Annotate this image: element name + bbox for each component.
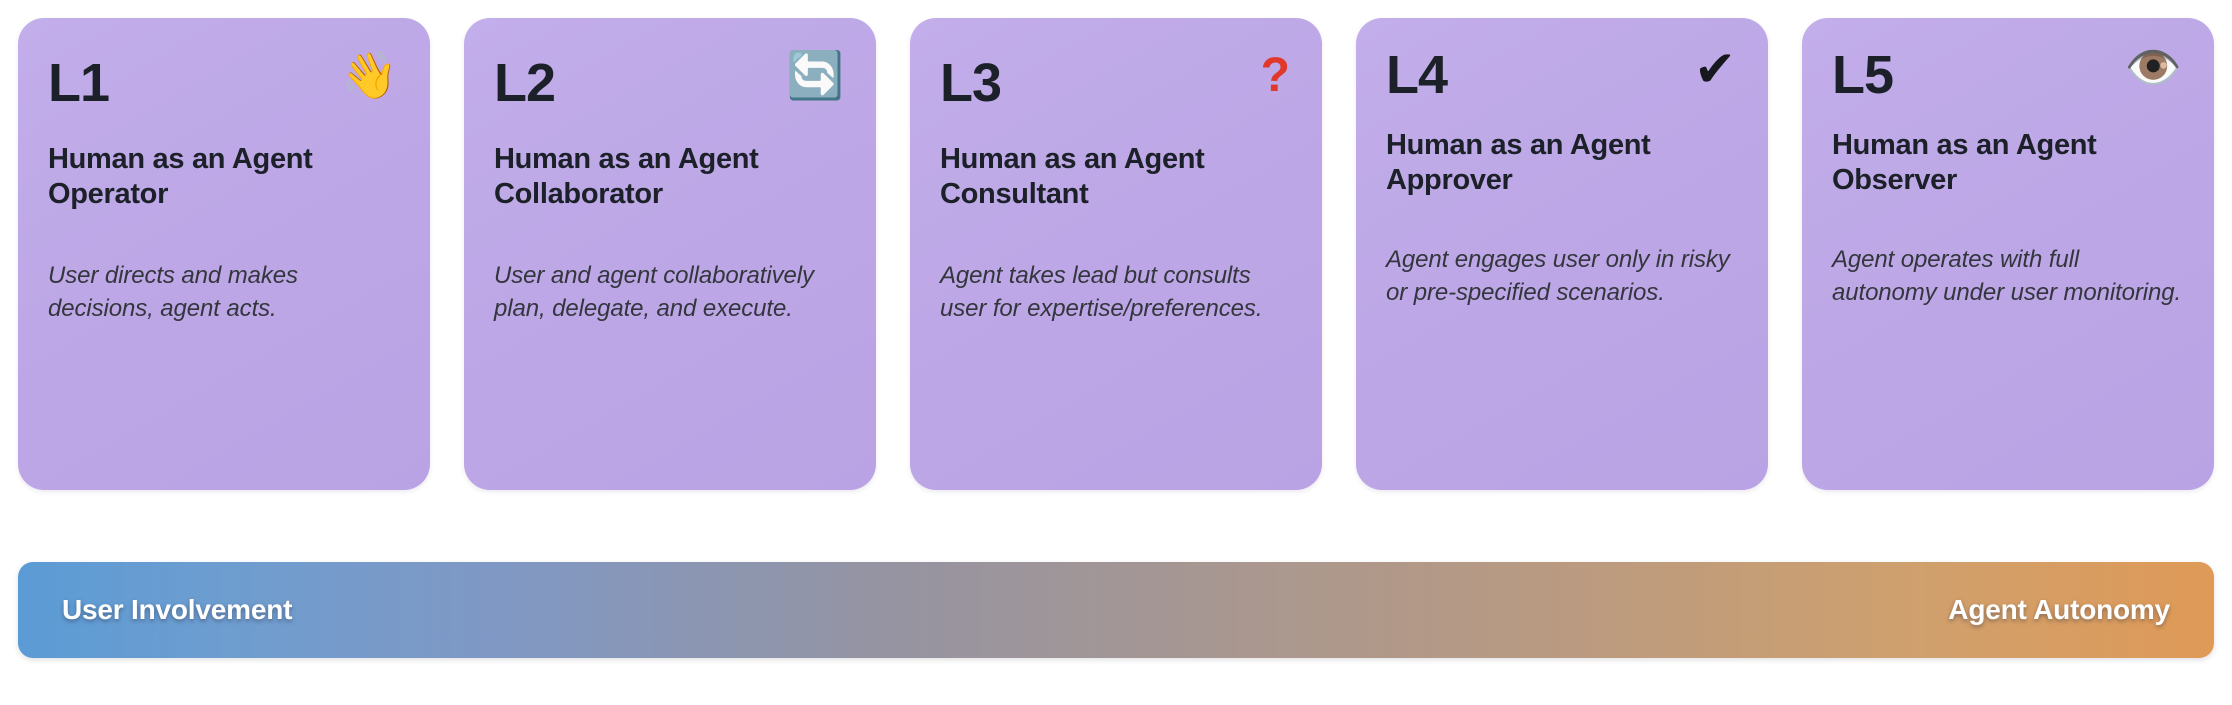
level-title-l4: Human as an Agent Approver xyxy=(1386,128,1738,199)
level-description-l5: Agent operates with full autonomy under … xyxy=(1832,243,2184,309)
agent-autonomy-levels-figure: L1 👋 Human as an Agent Operator User dir… xyxy=(0,0,2232,705)
level-title-l2: Human as an Agent Collaborator xyxy=(494,142,846,213)
card-header-l4: L4 ✔ xyxy=(1386,40,1738,124)
level-description-l3: Agent takes lead but consults user for e… xyxy=(940,259,1292,325)
card-header-l1: L1 👋 xyxy=(48,48,400,132)
level-description-l2: User and agent collaboratively plan, del… xyxy=(494,259,846,325)
level-tag-l1: L1 xyxy=(48,56,109,110)
level-card-l4[interactable]: L4 ✔ Human as an Agent Approver Agent en… xyxy=(1356,18,1768,490)
level-tag-l3: L3 xyxy=(940,56,1001,110)
level-tag-l4: L4 xyxy=(1386,48,1447,102)
level-title-l5: Human as an Agent Observer xyxy=(1832,128,2184,199)
level-card-l5[interactable]: L5 👁️ Human as an Agent Observer Agent o… xyxy=(1802,18,2214,490)
level-card-l3[interactable]: L3 ? Human as an Agent Consultant Agent … xyxy=(910,18,1322,490)
level-title-l1: Human as an Agent Operator xyxy=(48,142,400,213)
level-title-l3: Human as an Agent Consultant xyxy=(940,142,1292,213)
level-tag-l2: L2 xyxy=(494,56,555,110)
level-description-l1: User directs and makes decisions, agent … xyxy=(48,259,400,325)
card-header-l3: L3 ? xyxy=(940,48,1292,132)
level-card-row: L1 👋 Human as an Agent Operator User dir… xyxy=(18,18,2214,490)
card-header-l2: L2 🔄 xyxy=(494,48,846,132)
question-mark-icon: ? xyxy=(1261,52,1290,100)
waving-hand-icon: 👋 xyxy=(341,52,398,98)
level-description-l4: Agent engages user only in risky or pre-… xyxy=(1386,243,1738,309)
eye-icon: 👁️ xyxy=(2125,44,2182,90)
level-card-l2[interactable]: L2 🔄 Human as an Agent Collaborator User… xyxy=(464,18,876,490)
autonomy-spectrum-bar: User Involvement Agent Autonomy xyxy=(18,562,2214,658)
spectrum-label-right: Agent Autonomy xyxy=(1948,594,2170,626)
check-mark-icon: ✔ xyxy=(1694,44,1736,94)
card-header-l5: L5 👁️ xyxy=(1832,40,2184,124)
level-tag-l5: L5 xyxy=(1832,48,1893,102)
spectrum-label-left: User Involvement xyxy=(62,594,292,626)
sync-arrows-icon: 🔄 xyxy=(787,52,844,98)
level-card-l1[interactable]: L1 👋 Human as an Agent Operator User dir… xyxy=(18,18,430,490)
